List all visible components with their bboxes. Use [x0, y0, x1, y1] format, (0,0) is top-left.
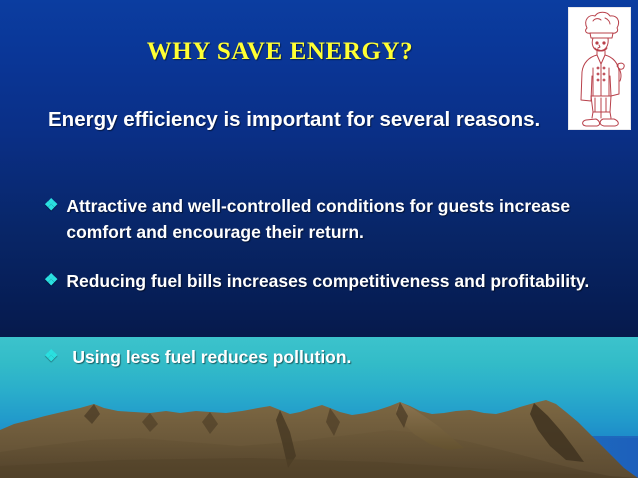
list-item-label: Reducing fuel bills increases competitiv…	[66, 268, 604, 294]
list-item: ❖ Attractive and well-controlled conditi…	[44, 193, 616, 245]
mountain-range-graphic	[0, 380, 638, 478]
list-item: ❖ Reducing fuel bills increases competit…	[44, 268, 604, 294]
diamond-bullet-icon: ❖	[44, 268, 58, 294]
list-item-label: Using less fuel reduces pollution.	[72, 344, 564, 370]
diamond-bullet-icon: ❖	[44, 193, 58, 219]
lead-paragraph: Energy efficiency is important for sever…	[48, 105, 548, 134]
chef-illustration	[568, 7, 631, 130]
list-item-label: Attractive and well-controlled condition…	[66, 193, 616, 245]
page-title: WHY SAVE ENERGY?	[0, 38, 560, 66]
list-item: ❖ Using less fuel reduces pollution.	[44, 344, 564, 370]
slide-canvas: WHY SAVE ENERGY? Energy efficiency is im…	[0, 0, 638, 478]
diamond-bullet-icon: ❖	[44, 344, 58, 370]
